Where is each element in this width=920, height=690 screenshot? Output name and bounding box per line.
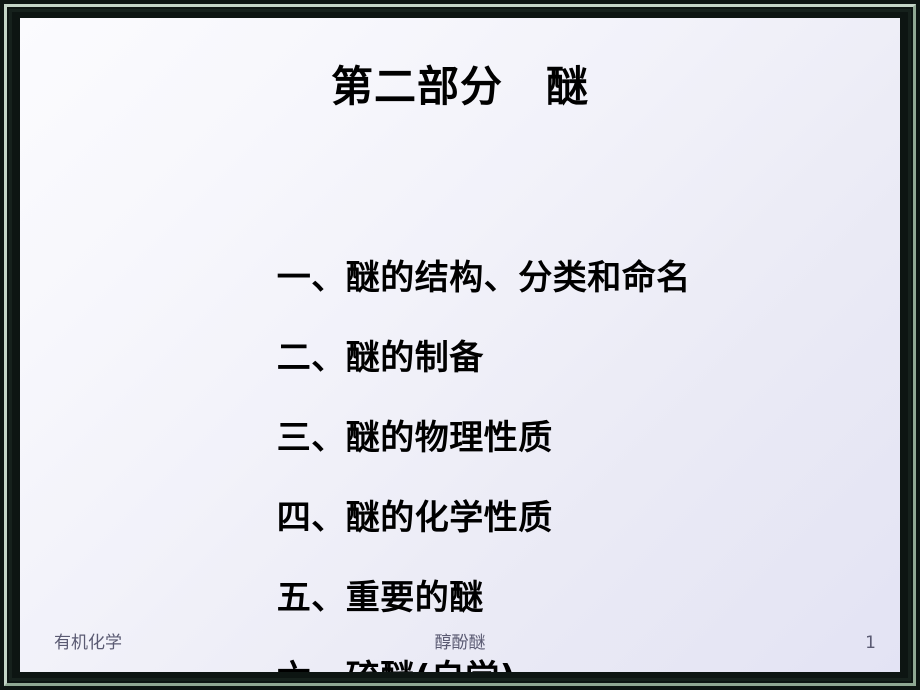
outline-item-label: 二、醚的制备 [277,338,484,378]
outline-item-label: 六、硫醚(自学) [277,658,516,672]
outline-item-label: 五、重要的醚 [277,578,484,618]
outline-item-label: 一、醚的结构、分类和命名 [277,258,691,298]
slide-frame: 第二部分 醚 一、醚的结构、分类和命名 二、醚的制备 三、醚的物理性质 四、醚的… [0,0,920,690]
outline-item-1: 一、醚的结构、分类和命名 [178,158,878,238]
slide-footer: 有机化学 醇酚醚 1 [20,630,900,656]
footer-chapter-label: 醇酚醚 [20,630,900,656]
slide-canvas: 第二部分 醚 一、醚的结构、分类和命名 二、醚的制备 三、醚的物理性质 四、醚的… [20,18,900,672]
slide-title: 第二部分 醚 [20,64,900,110]
outline-item-label: 三、醚的物理性质 [277,418,553,458]
outline-list: 一、醚的结构、分类和命名 二、醚的制备 三、醚的物理性质 四、醚的化学性质 五、… [178,158,878,638]
footer-page-number: 1 [865,630,876,656]
outline-item-label: 四、醚的化学性质 [277,498,553,538]
